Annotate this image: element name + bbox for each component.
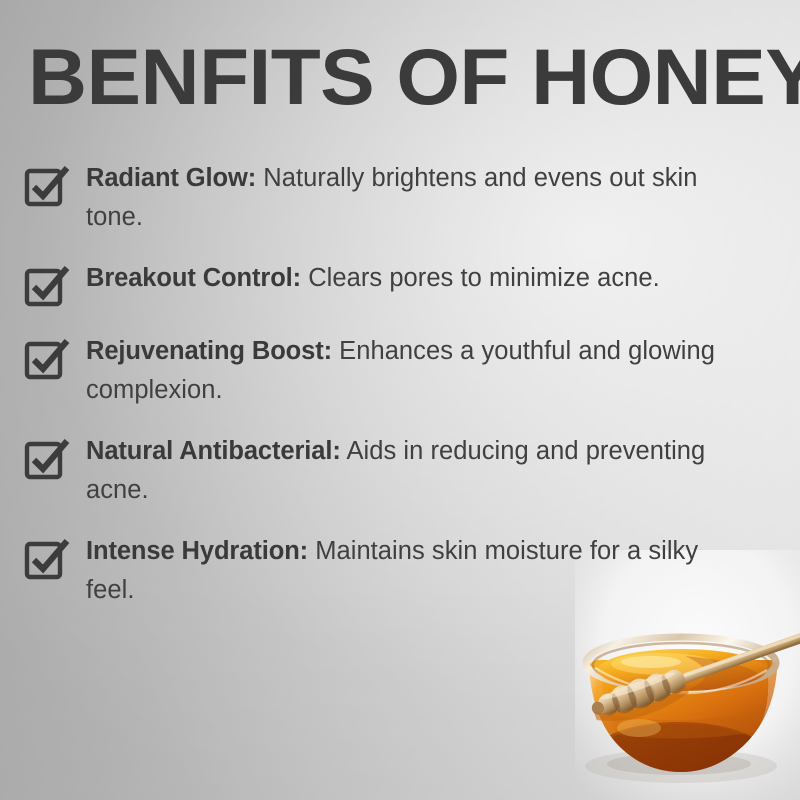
list-item-label: Rejuvenating Boost: bbox=[86, 337, 332, 365]
list-item: Radiant Glow: Naturally brightens and ev… bbox=[22, 158, 722, 237]
checkbox-checked-icon bbox=[22, 535, 70, 583]
list-item-text: Radiant Glow: Naturally brightens and ev… bbox=[86, 158, 722, 237]
list-item-label: Intense Hydration: bbox=[86, 537, 308, 565]
list-item: Breakout Control: Clears pores to minimi… bbox=[22, 258, 722, 310]
list-item-label: Breakout Control: bbox=[86, 264, 301, 292]
list-item-description: Clears pores to minimize acne. bbox=[308, 264, 660, 292]
list-item-label: Natural Antibacterial: bbox=[86, 437, 341, 465]
list-item-text: Rejuvenating Boost: Enhances a youthful … bbox=[86, 331, 722, 410]
checkbox-checked-icon bbox=[22, 162, 70, 210]
list-item: Rejuvenating Boost: Enhances a youthful … bbox=[22, 331, 722, 410]
checkbox-checked-icon bbox=[22, 262, 70, 310]
list-item-text: Intense Hydration: Maintains skin moistu… bbox=[86, 531, 722, 610]
checkbox-checked-icon bbox=[22, 335, 70, 383]
page-title: BENFITS OF HONEY bbox=[28, 34, 800, 120]
list-item-text: Natural Antibacterial: Aids in reducing … bbox=[86, 431, 722, 510]
benefits-list: Radiant Glow: Naturally brightens and ev… bbox=[22, 158, 722, 610]
list-item: Intense Hydration: Maintains skin moistu… bbox=[22, 531, 722, 610]
list-item-text: Breakout Control: Clears pores to minimi… bbox=[86, 258, 722, 298]
list-item: Natural Antibacterial: Aids in reducing … bbox=[22, 431, 722, 510]
list-item-label: Radiant Glow: bbox=[86, 164, 256, 192]
checkbox-checked-icon bbox=[22, 435, 70, 483]
honey-benefits-poster: BENFITS OF HONEY Radiant Glow: Naturally… bbox=[0, 0, 800, 800]
